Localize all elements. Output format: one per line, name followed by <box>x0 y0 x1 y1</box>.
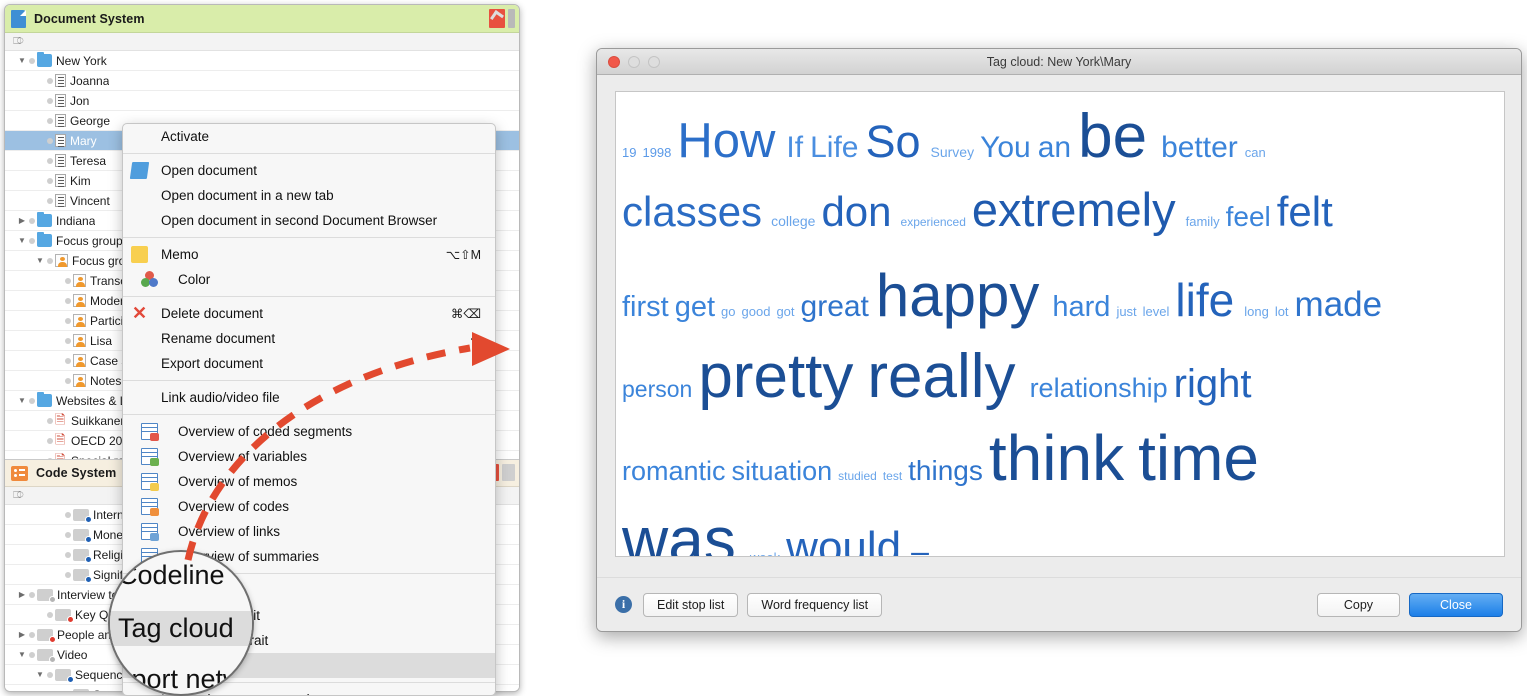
tag-cloud-word[interactable]: life <box>1175 277 1234 323</box>
tag-cloud-word[interactable]: test <box>883 470 902 482</box>
code-color-icon <box>55 669 71 681</box>
activation-dot[interactable] <box>47 258 53 264</box>
activation-dot[interactable] <box>65 532 71 538</box>
tag-cloud-word[interactable]: can <box>1245 146 1266 159</box>
tag-cloud-word[interactable]: hard <box>1052 293 1110 322</box>
activation-dot[interactable] <box>65 692 71 693</box>
doc-icon <box>55 134 66 147</box>
tag-cloud-word[interactable]: things <box>908 457 983 485</box>
folder-icon <box>37 234 52 247</box>
twisty-icon[interactable]: ▼ <box>33 256 47 265</box>
context-menu-item-label: Memo <box>161 247 199 262</box>
context-menu-item[interactable]: Open document in second Document Browser <box>123 208 495 233</box>
activation-dot[interactable] <box>29 632 35 638</box>
memo-icon <box>131 246 148 263</box>
tag-cloud-word[interactable]: 19 <box>622 146 636 159</box>
tag-cloud-word[interactable]: great <box>801 292 869 322</box>
magnifier-content: Codeline Tag cloud xport network <box>110 552 254 696</box>
tag-cloud-word[interactable]: family <box>1186 215 1220 228</box>
document-system-title: Document System <box>34 12 145 26</box>
tag-cloud-word[interactable]: really <box>867 346 1015 408</box>
code-color-icon <box>73 549 89 561</box>
person-icon <box>73 314 86 327</box>
panel-extra-icon[interactable] <box>508 9 515 28</box>
person-icon <box>73 334 86 347</box>
document-tree-label: Indiana <box>56 214 95 228</box>
tag-cloud-word[interactable]: pretty <box>698 346 853 408</box>
tag-cloud-word[interactable]: If <box>786 133 803 163</box>
tag-cloud-word[interactable]: 1998 <box>642 146 671 159</box>
document-tree-label: Jon <box>70 94 89 108</box>
tag-cloud-word[interactable]: would <box>786 526 901 557</box>
code-color-icon <box>37 589 53 601</box>
arrow-head <box>472 332 510 366</box>
tag-cloud-word[interactable]: just <box>1116 305 1136 318</box>
tag-cloud-word[interactable]: college <box>771 214 815 228</box>
context-menu-item[interactable]: Memo⌥⇧M <box>123 242 495 267</box>
activation-dot[interactable] <box>29 58 35 64</box>
person-icon <box>73 354 86 367</box>
code-system-title: Code System <box>36 466 116 480</box>
tag-cloud-word[interactable]: happy <box>876 266 1039 326</box>
document-tree-label: Lisa <box>90 334 112 348</box>
context-menu-item-label: Open document in a new tab <box>161 188 334 203</box>
tag-cloud-word[interactable]: extremely <box>972 186 1176 233</box>
tag-cloud-word[interactable]: an <box>1038 133 1071 163</box>
tag-cloud-word[interactable]: Survey <box>931 145 975 159</box>
activation-dot[interactable] <box>65 298 71 304</box>
word-frequency-list-button[interactable]: Word frequency list <box>747 593 882 617</box>
context-menu-separator <box>123 237 495 238</box>
folder-icon <box>37 54 52 67</box>
activation-dot[interactable] <box>65 378 71 384</box>
document-tree-label: George <box>70 114 110 128</box>
annotation-arrow <box>150 280 590 560</box>
code-color-icon <box>73 529 89 541</box>
tag-cloud-word[interactable]: first <box>622 293 669 322</box>
document-tree-row[interactable]: Jon <box>5 91 519 111</box>
context-menu-item[interactable]: Activate <box>123 124 495 149</box>
document-tree-row[interactable]: ▼New York <box>5 51 519 71</box>
person-icon <box>73 374 86 387</box>
twisty-icon[interactable]: ▼ <box>15 396 29 405</box>
tag-cloud-word[interactable]: experienced <box>901 216 966 228</box>
activation-dot[interactable] <box>47 138 53 144</box>
tag-cloud-word[interactable]: Life <box>810 133 858 163</box>
activation-dot[interactable] <box>65 278 71 284</box>
tag-cloud-word[interactable]: was <box>622 508 736 557</box>
activation-dot[interactable] <box>65 512 71 518</box>
arrow-path <box>188 348 470 560</box>
tag-cloud-word[interactable]: How <box>677 117 775 166</box>
activation-dot[interactable] <box>47 118 53 124</box>
tag-cloud-word[interactable]: be <box>1078 106 1147 168</box>
context-menu-separator <box>123 153 495 154</box>
pdf-icon <box>55 434 67 448</box>
document-tree-row[interactable]: Joanna <box>5 71 519 91</box>
activation-dot[interactable] <box>29 398 35 404</box>
activation-dot[interactable] <box>29 218 35 224</box>
tag-cloud-footer: i Edit stop list Word frequency list Cop… <box>597 577 1521 631</box>
twisty-icon[interactable]: ▼ <box>33 670 47 679</box>
magnified-menu-item-export-network: xport network <box>110 664 254 695</box>
document-system-toolbar: ⎄ <box>5 33 519 51</box>
tag-cloud-line: classescollegedonexperiencedextremelyfam… <box>622 186 1498 260</box>
document-tree-label: Focus group <box>56 234 123 248</box>
doc-icon <box>55 74 66 87</box>
twisty-icon[interactable]: ▼ <box>15 56 29 65</box>
tag-cloud-word[interactable]: lot <box>1275 305 1289 318</box>
activation-dot[interactable] <box>29 592 35 598</box>
pencil-icon <box>130 162 149 179</box>
tag-cloud-word[interactable]: made <box>1295 287 1383 322</box>
tag-cloud-word[interactable]: right <box>1174 364 1252 404</box>
tag-cloud-word[interactable]: week <box>750 551 780 557</box>
context-menu-item-label: Open document in second Document Browser <box>161 213 437 228</box>
doc-icon <box>55 94 66 107</box>
tag-cloud-window-title: Tag cloud: New York\Mary <box>597 55 1521 69</box>
activation-dot[interactable] <box>47 98 53 104</box>
delete-icon: ✕ <box>131 305 148 322</box>
tag-cloud-line: romanticsituationstudiedtestthingsthinkt… <box>622 426 1498 500</box>
tag-cloud-word[interactable]: level <box>1143 305 1170 318</box>
tag-cloud-canvas[interactable]: 191998HowIfLifeSoSurveyYouanbebettercanc… <box>615 91 1505 557</box>
activation-dot[interactable] <box>47 418 53 424</box>
document-tree-label: Joanna <box>70 74 109 88</box>
twisty-icon[interactable]: ▶ <box>15 216 29 225</box>
magnified-menu-item-tag-cloud: Tag cloud <box>110 611 254 646</box>
tag-cloud-line: wasweekwould– <box>622 508 1498 557</box>
activation-dot[interactable] <box>29 652 35 658</box>
magnified-menu-item-codeline: Codeline <box>110 560 254 591</box>
tag-cloud-word[interactable]: feel <box>1226 203 1271 231</box>
magnifier-loupe: Codeline Tag cloud xport network <box>108 550 254 696</box>
activation-dot[interactable] <box>47 438 53 444</box>
tag-cloud-line: firstgetgogoodgotgreathappyhardjustlevel… <box>622 266 1498 340</box>
twisty-icon[interactable]: ▼ <box>15 650 29 659</box>
person-icon <box>73 294 86 307</box>
tag-cloud-word[interactable]: got <box>776 305 794 318</box>
document-tree-label: Teresa <box>70 154 106 168</box>
document-tree-label: Vincent <box>70 194 110 208</box>
twisty-icon[interactable]: ▶ <box>15 630 29 639</box>
document-tree-label: New York <box>56 54 107 68</box>
context-menu-item[interactable]: Open document <box>123 158 495 183</box>
tag-cloud-word[interactable]: felt <box>1277 191 1333 233</box>
activation-dot[interactable] <box>65 358 71 364</box>
activation-dot[interactable] <box>65 338 71 344</box>
activation-dot[interactable] <box>47 612 53 618</box>
context-menu-item[interactable]: Open document in a new tab <box>123 183 495 208</box>
tag-cloud-word[interactable]: get <box>675 293 715 322</box>
document-system-header: Document System <box>5 5 519 33</box>
tag-cloud-titlebar: Tag cloud: New York\Mary <box>597 49 1521 75</box>
activation-dot[interactable] <box>47 198 53 204</box>
document-tree-label: Mary <box>70 134 97 148</box>
code-color-icon <box>55 609 71 621</box>
tag-cloud-word[interactable]: studied <box>838 470 877 482</box>
code-color-icon <box>37 649 53 661</box>
activation-dot[interactable] <box>47 158 53 164</box>
tag-cloud-word[interactable]: classes <box>622 191 762 233</box>
tag-cloud-word[interactable]: situation <box>732 458 833 485</box>
document-tree-label: Kim <box>70 174 91 188</box>
tag-cloud-body: 191998HowIfLifeSoSurveyYouanbebettercanc… <box>597 75 1521 557</box>
tag-cloud-word[interactable]: time <box>1138 426 1259 490</box>
tag-cloud-word[interactable]: – <box>911 535 929 557</box>
tag-cloud-line: personprettyreallyrelationshipright <box>622 346 1498 420</box>
document-system-header-icons <box>489 9 515 28</box>
tag-cloud-word[interactable]: go <box>721 305 735 318</box>
pdf-icon <box>55 414 67 428</box>
tag-cloud-line: 191998HowIfLifeSoSurveyYouanbebettercan <box>622 106 1498 180</box>
context-menu-shortcut: ⌥⇧M <box>446 247 481 262</box>
folder-icon <box>37 214 52 227</box>
activation-dot[interactable] <box>65 552 71 558</box>
document-system-icon <box>11 10 26 28</box>
doc-icon <box>55 114 66 127</box>
person-icon <box>73 274 86 287</box>
tag-cloud-word[interactable]: good <box>742 305 771 318</box>
tag-cloud-word[interactable]: don <box>821 191 891 233</box>
document-tree-label: Notes <box>90 374 121 388</box>
activation-dot[interactable] <box>65 318 71 324</box>
tag-cloud-word[interactable]: think <box>989 426 1124 490</box>
edit-stop-list-button[interactable]: Edit stop list <box>643 593 738 617</box>
activation-dot[interactable] <box>47 78 53 84</box>
activation-dot[interactable] <box>65 572 71 578</box>
twisty-icon[interactable]: ▼ <box>15 236 29 245</box>
tag-cloud-word[interactable]: So <box>865 119 920 164</box>
import-document-icon[interactable] <box>489 9 505 28</box>
code-tree-layout-icon[interactable]: ⎄ <box>13 490 24 501</box>
doc-icon <box>55 194 66 207</box>
tag-cloud-word[interactable]: You <box>980 133 1031 163</box>
doc-icon <box>55 174 66 187</box>
code-color-icon <box>37 629 53 641</box>
twisty-icon[interactable]: ▶ <box>15 590 29 599</box>
folder-icon <box>37 394 52 407</box>
code-color-icon <box>73 689 89 693</box>
tag-cloud-word[interactable]: person <box>622 378 692 401</box>
close-button[interactable]: Close <box>1409 593 1503 617</box>
code-color-icon <box>73 569 89 581</box>
tag-cloud-word[interactable]: relationship <box>1030 375 1168 402</box>
activation-dot[interactable] <box>29 238 35 244</box>
copy-button[interactable]: Copy <box>1317 593 1400 617</box>
tree-layout-icon[interactable]: ⎄ <box>13 36 24 47</box>
info-icon[interactable]: i <box>615 596 632 613</box>
tag-cloud-word[interactable]: better <box>1161 133 1238 163</box>
activation-dot[interactable] <box>47 178 53 184</box>
activation-dot[interactable] <box>47 672 53 678</box>
tag-cloud-window: Tag cloud: New York\Mary 191998HowIfLife… <box>596 48 1522 632</box>
person-icon <box>55 254 68 267</box>
context-menu-item-label: Open document <box>161 163 257 178</box>
context-menu-item-label: Activate <box>161 129 209 144</box>
code-system-icon <box>11 466 28 481</box>
doc-icon <box>55 154 66 167</box>
tag-cloud-word[interactable]: long <box>1244 305 1269 318</box>
code-color-icon <box>73 509 89 521</box>
tag-cloud-word[interactable]: romantic <box>622 458 726 485</box>
code-tree-label: Video <box>57 648 87 662</box>
